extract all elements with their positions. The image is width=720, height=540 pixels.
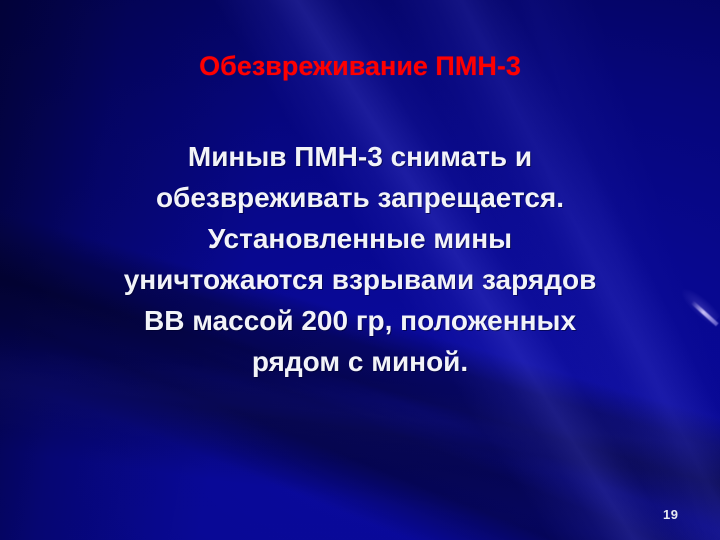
slide-title: Обезвреживание ПМН-3 xyxy=(0,52,720,80)
body-line: ВВ массой 200 гр, положенных xyxy=(28,300,692,341)
body-line: уничтожаются взрывами зарядов xyxy=(28,259,692,300)
body-line: рядом с миной. xyxy=(28,341,692,382)
presentation-slide: Обезвреживание ПМН-3 Миныв ПМН-3 снимать… xyxy=(0,0,720,540)
slide-body: Миныв ПМН-3 снимать и обезвреживать запр… xyxy=(28,136,692,382)
body-line: обезвреживать запрещается. xyxy=(28,177,692,218)
body-line: Установленные мины xyxy=(28,218,692,259)
slide-number: 19 xyxy=(663,507,678,522)
body-line: Миныв ПМН-3 снимать и xyxy=(28,136,692,177)
